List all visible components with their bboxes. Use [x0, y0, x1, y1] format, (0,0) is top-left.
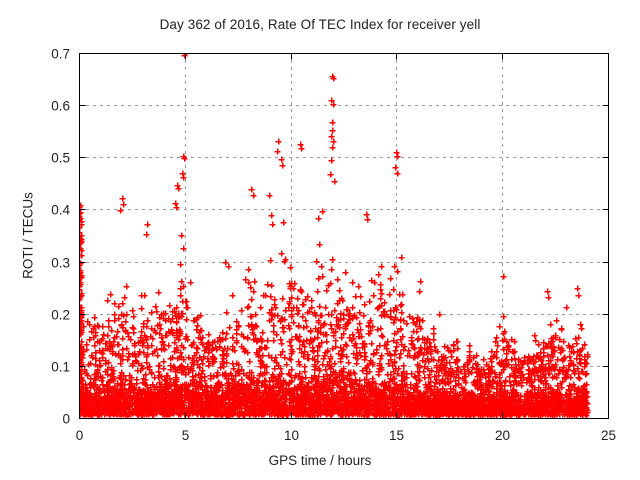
plot-area: 00.10.20.30.40.50.60.70510152025: [0, 0, 640, 480]
y-tick-label: 0.1: [51, 360, 70, 375]
y-tick-label: 0.7: [51, 47, 70, 62]
y-tick-label: 0.4: [51, 203, 70, 218]
x-tick-label: 10: [284, 428, 299, 443]
y-tick-label: 0.3: [51, 256, 70, 271]
y-tick-label: 0.6: [51, 99, 70, 114]
x-tick-label: 5: [182, 428, 190, 443]
y-tick-label: 0.5: [51, 151, 70, 166]
roti-scatter-figure: Day 362 of 2016, Rate Of TEC Index for r…: [0, 0, 640, 480]
y-tick-label: 0: [62, 412, 70, 427]
x-tick-label: 25: [601, 428, 616, 443]
y-tick-label: 0.2: [51, 308, 70, 323]
x-tick-label: 0: [76, 428, 84, 443]
x-tick-label: 20: [495, 428, 510, 443]
x-tick-label: 15: [389, 428, 404, 443]
